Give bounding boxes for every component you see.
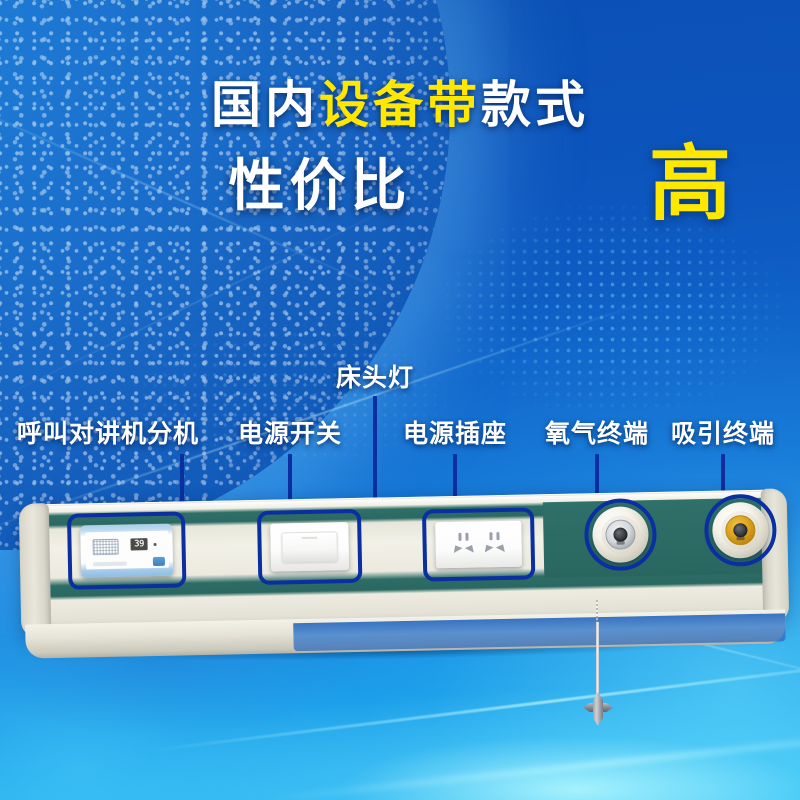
headline-segment-3: 款式: [481, 77, 589, 133]
highlight-box-power-socket: [422, 507, 535, 581]
cord-weight-vertical-icon: [593, 692, 603, 726]
callout-label: 床头灯: [336, 358, 414, 394]
highlight-box-intercom: [67, 511, 187, 589]
pull-cord-weight[interactable]: [583, 692, 613, 722]
medical-headwall-panel: 39: [23, 489, 785, 636]
callout-label: 呼叫对讲机分机: [17, 414, 199, 450]
panel-end-cap-left: [19, 503, 52, 638]
callout-label: 电源开关: [238, 414, 342, 450]
promo-banner: 国内设备带款式 性价比 高 呼叫对讲机分机 电源开关 床头灯 电源插座 氧气终端…: [0, 0, 800, 800]
callout-label: 电源插座: [403, 414, 507, 450]
callout-label: 氧气终端: [545, 414, 649, 450]
callout-label: 吸引终端: [671, 414, 775, 450]
highlight-box-power-switch: [257, 509, 362, 585]
pull-cord[interactable]: [596, 622, 599, 700]
